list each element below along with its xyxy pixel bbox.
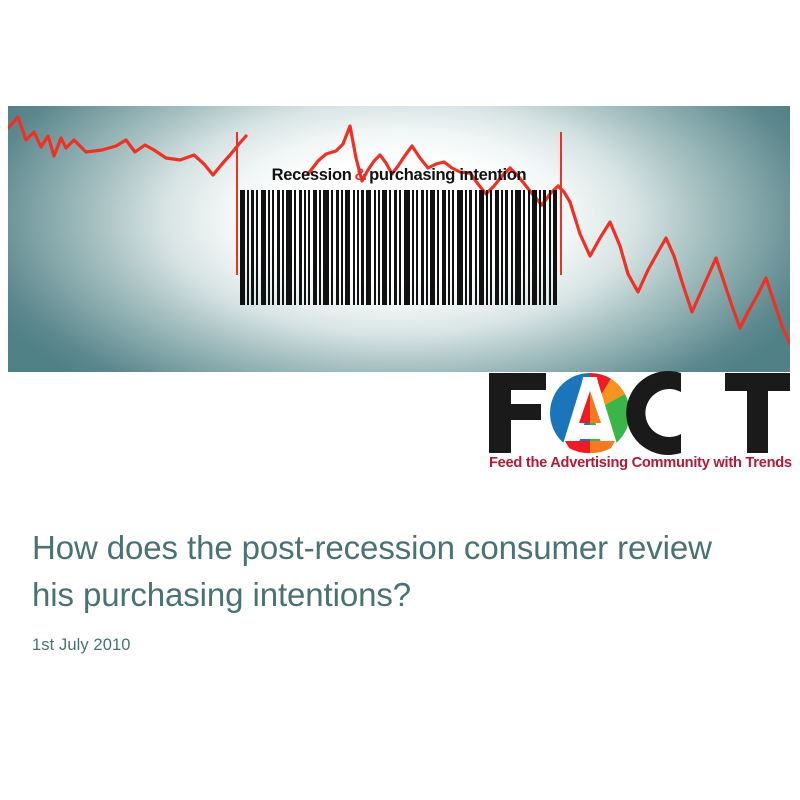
barcode-guard-left [236,132,238,275]
fact-letter-c-icon [626,371,681,455]
roundel-a-white-apex [581,377,599,389]
barcode-bar [313,190,317,305]
barcode-label-ampersand: & [352,166,370,185]
barcode-bar [277,190,280,305]
barcode-bar [479,190,484,305]
barcode-bar [294,190,296,305]
barcode-bar [452,190,454,305]
barcode-bar [543,190,546,305]
barcode-bar [282,190,284,305]
barcode-bar [286,190,292,305]
barcode-bar [486,190,488,305]
fact-wordmark [487,369,792,457]
trend-line-right-tail [570,202,790,344]
barcode-bar [475,190,477,305]
barcode-guard-right [560,132,562,275]
barcode-bar [272,190,274,305]
barcode-label: Recession & purchasing intention [240,160,558,190]
barcode-bar [382,190,387,305]
barcode-bar [416,190,418,305]
barcode-bar [430,190,435,305]
barcode-bar [247,190,249,305]
barcode-bar [495,190,499,305]
barcode-bar [465,190,467,305]
barcode-label-prefix: Recession [272,166,352,185]
barcode-bar [336,190,339,305]
barcode-bar [399,190,401,305]
barcode-bar [299,190,302,305]
trend-line-left [8,117,246,175]
barcode-bar [366,190,371,305]
barcode-bar [353,190,355,305]
barcode-bar [549,190,551,305]
barcode-bar [256,190,258,305]
fact-letter-f-icon [489,373,546,453]
barcode-bar [319,190,321,305]
page-date: 1st July 2010 [32,636,762,655]
page-title: How does the post-recession consumer rev… [32,524,732,618]
barcode-bar [501,190,503,305]
barcode-bar [532,190,537,305]
barcode-bar [404,190,410,305]
barcode-label-suffix: purchasing intention [369,166,526,185]
barcode-bar [511,190,513,305]
barcode-bar [357,190,359,305]
barcode-bar [331,190,333,305]
barcode-bar [412,190,414,305]
barcode-bars [240,190,558,305]
barcode-bar [304,190,306,305]
barcode-bar [308,190,310,305]
barcode-bar [442,190,446,305]
barcode-bar [539,190,541,305]
barcode-bar [361,190,364,305]
fact-letter-a-roundel-icon [550,373,630,457]
barcode-bar [469,190,472,305]
barcode-bar [457,190,463,305]
barcode-bar [553,190,557,305]
fact-logo: Feed the Advertising Community with Tren… [487,369,792,481]
fact-tagline: Feed the Advertising Community with Tren… [489,455,792,471]
barcode-bar [345,190,350,305]
barcode-bar [421,190,424,305]
barcode-bar [261,190,266,305]
barcode-bar [394,190,397,305]
barcode-bar [490,190,492,305]
barcode-bar [528,190,530,305]
title-block: How does the post-recession consumer rev… [32,524,762,655]
barcode-bar [374,190,376,305]
barcode-bar [240,190,245,305]
barcode-bar [341,190,343,305]
barcode-bar [426,190,428,305]
barcode-bar [251,190,254,305]
fact-letter-t-icon [725,373,790,453]
barcode-bar [268,190,270,305]
barcode-bar [448,190,450,305]
barcode-bar [505,190,508,305]
barcode-bar [515,190,521,305]
barcode-bar [323,190,329,305]
barcode-graphic: Recession & purchasing intention [240,160,558,305]
barcode-bar [378,190,380,305]
barcode-bar [437,190,439,305]
barcode-bar [523,190,525,305]
barcode-bar [389,190,391,305]
